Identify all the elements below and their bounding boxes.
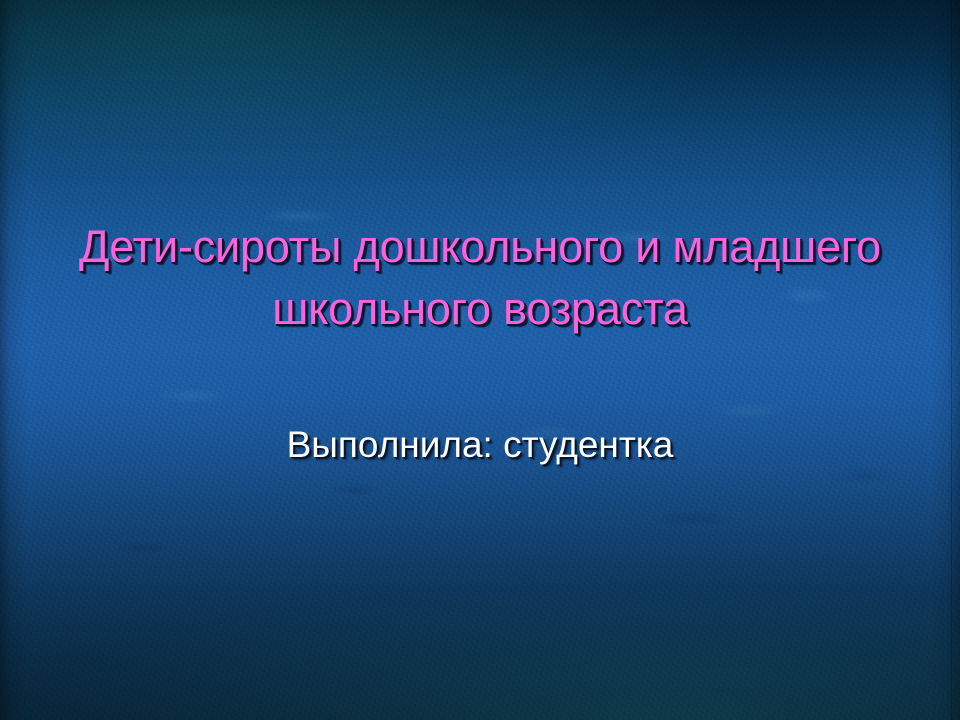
slide-subtitle: Выполнила: студентка (0, 422, 960, 468)
slide-content: Дети-сироты дошкольного и младшего школь… (0, 0, 960, 720)
slide-title: Дети-сироты дошкольного и младшего школь… (0, 216, 960, 340)
presentation-slide: Дети-сироты дошкольного и младшего школь… (0, 0, 960, 720)
